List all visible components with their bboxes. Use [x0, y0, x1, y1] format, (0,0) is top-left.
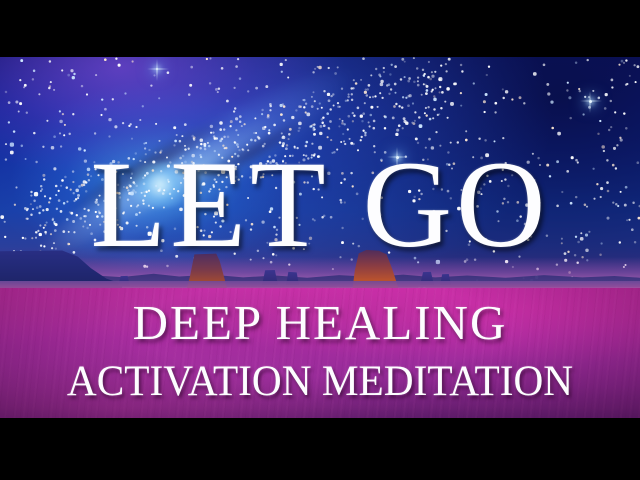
tagline-text: ACTIVATION MEDITATION [13, 360, 627, 403]
bright-star-1 [589, 100, 592, 103]
letterbox-bar-bottom [0, 418, 640, 480]
starfield-layer-bright [0, 57, 1, 58]
letterbox-bar-top [0, 0, 640, 57]
bright-star-3 [156, 68, 158, 70]
video-frame: LET GO DEEP HEALING ACTIVATION MEDITATIO… [0, 57, 640, 418]
headline-text: LET GO [0, 143, 640, 267]
video-thumbnail-canvas: LET GO DEEP HEALING ACTIVATION MEDITATIO… [0, 0, 640, 480]
subheadline-text: DEEP HEALING [0, 298, 640, 347]
